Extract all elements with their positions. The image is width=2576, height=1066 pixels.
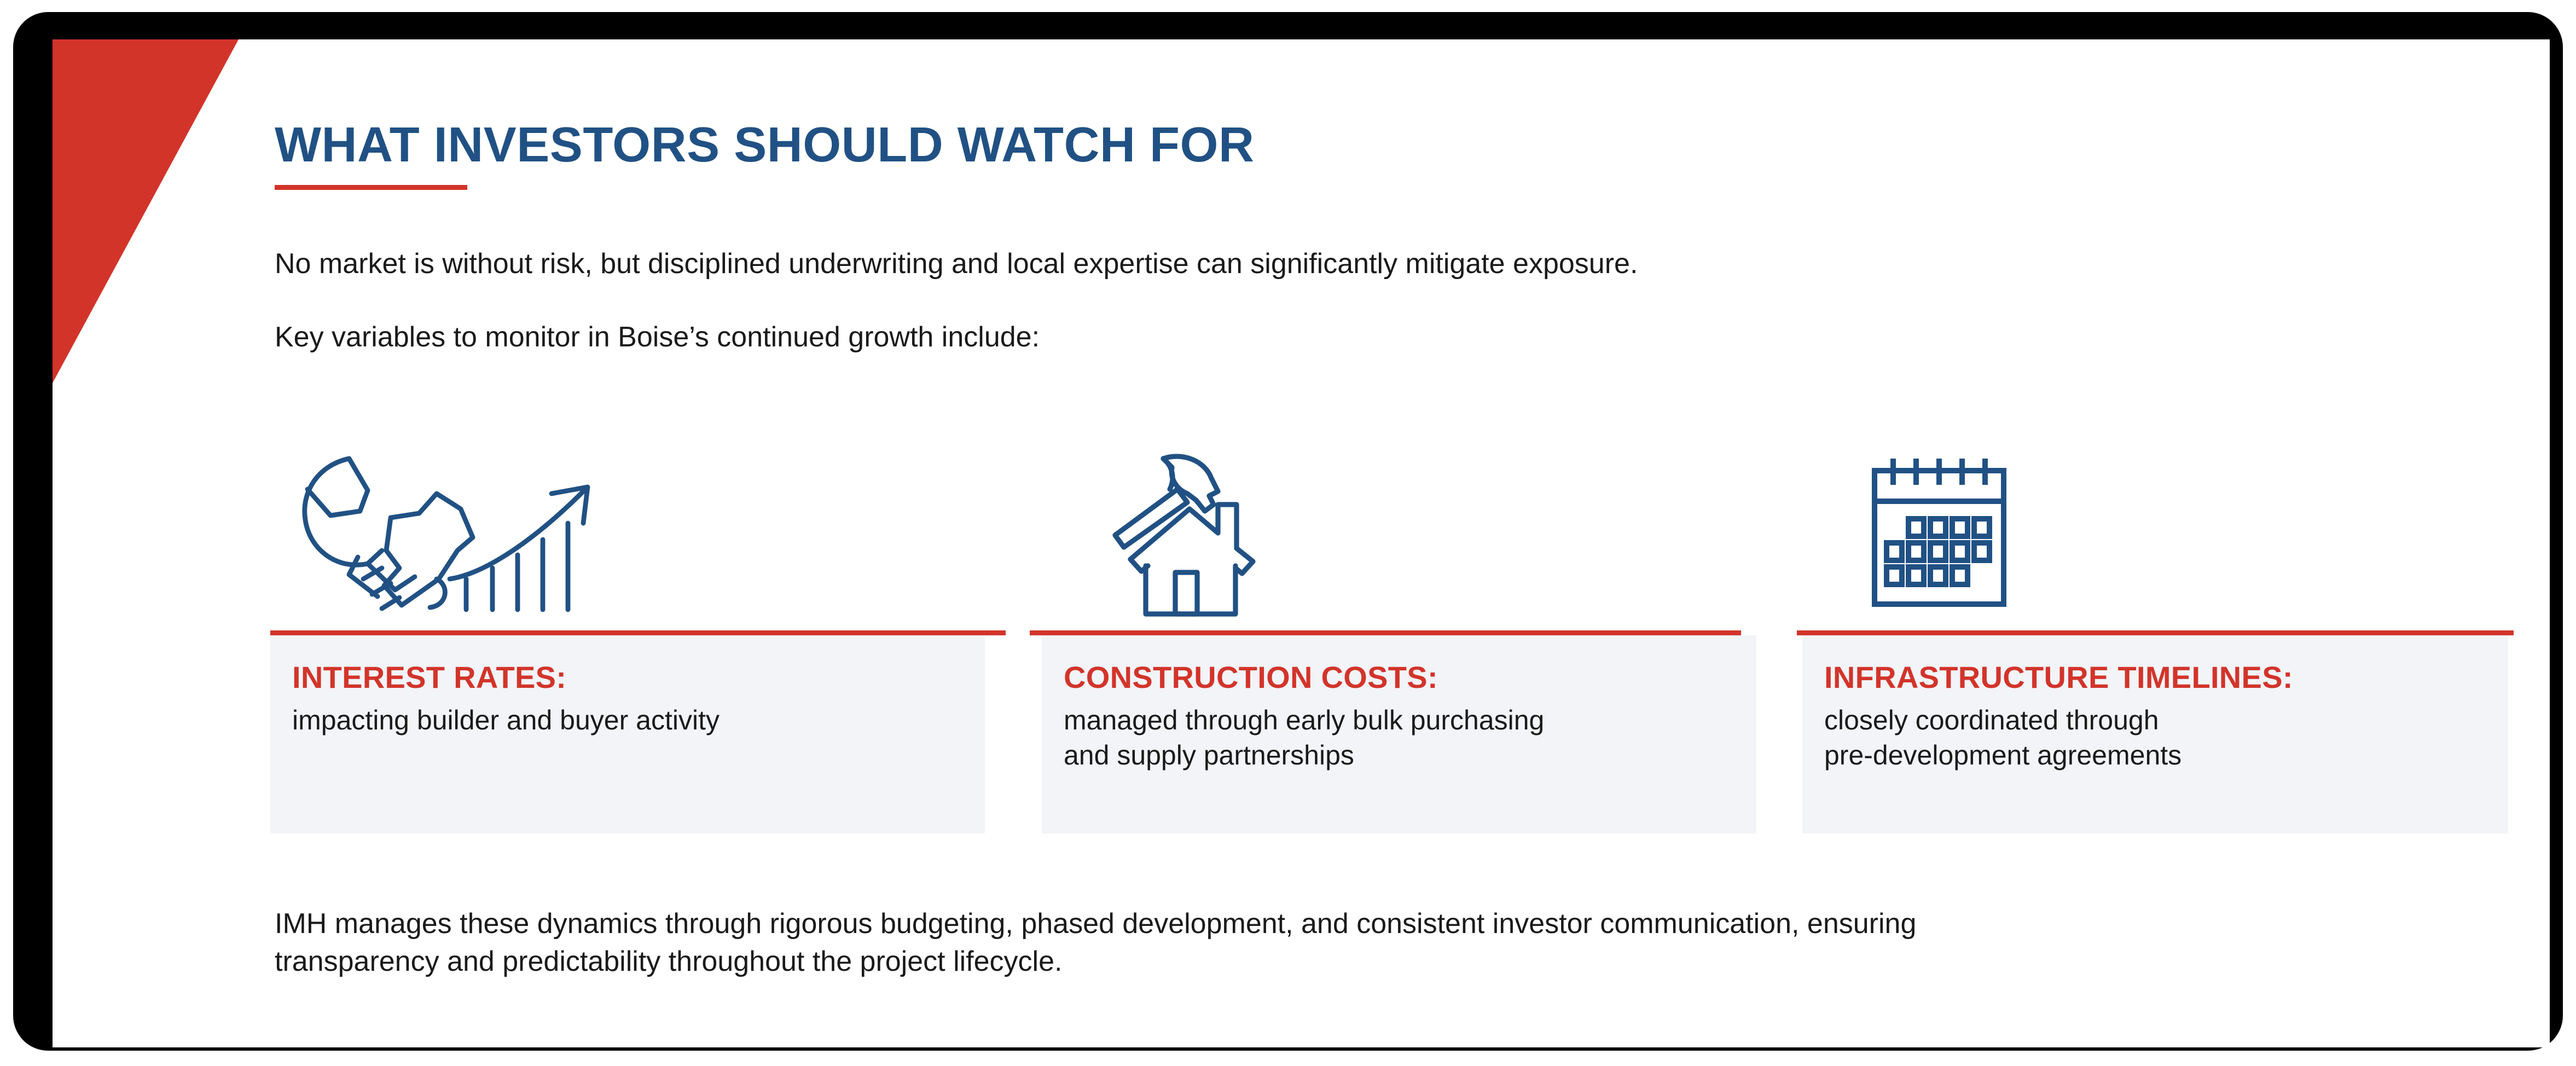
title-underline-rule xyxy=(275,185,467,190)
feature-title: CONSTRUCTION COSTS: xyxy=(1064,662,1734,694)
hammer-house-icon xyxy=(1091,445,1277,626)
footer-paragraph: IMH manages these dynamics through rigor… xyxy=(275,905,2441,980)
red-corner-wedge xyxy=(53,39,239,383)
feature-body-line-1: closely coordinated through xyxy=(1824,705,2159,735)
feature-body-line-1: impacting builder and buyer activity xyxy=(292,705,720,735)
column-divider-rule xyxy=(1797,630,2514,635)
feature-column-infrastructure-timelines: INFRASTRUCTURE TIMELINES: closely coordi… xyxy=(1802,401,2576,860)
icon-container xyxy=(1802,401,2576,630)
feature-panel: CONSTRUCTION COSTS: managed through earl… xyxy=(1042,635,1756,833)
icon-container xyxy=(270,401,999,630)
feature-body-line-1: managed through early bulk purchasing xyxy=(1064,705,1544,735)
page-title: WHAT INVESTORS SHOULD WATCH FOR xyxy=(275,120,2409,170)
calendar-icon xyxy=(1852,445,2032,626)
content-card: WHAT INVESTORS SHOULD WATCH FOR No marke… xyxy=(53,39,2550,1047)
footer-line-2: transparency and predictability througho… xyxy=(275,943,2441,981)
footer-line-1: IMH manages these dynamics through rigor… xyxy=(275,905,2441,943)
feature-body: impacting builder and buyer activity xyxy=(292,703,963,738)
intro-paragraph-1: No market is without risk, but disciplin… xyxy=(275,246,1638,282)
feature-body-line-2: and supply partnerships xyxy=(1064,740,1354,770)
intro-paragraph-2: Key variables to monitor in Boise’s cont… xyxy=(275,320,1040,355)
feature-title: INTEREST RATES: xyxy=(292,662,963,694)
column-divider-rule xyxy=(1030,630,1741,635)
feature-body: managed through early bulk purchasing an… xyxy=(1064,703,1734,773)
outer-frame: WHAT INVESTORS SHOULD WATCH FOR No marke… xyxy=(13,12,2563,1051)
feature-panel: INTEREST RATES: impacting builder and bu… xyxy=(270,635,985,833)
wrench-growth-chart-icon xyxy=(286,445,614,626)
feature-column-interest-rates: INTEREST RATES: impacting builder and bu… xyxy=(270,401,999,860)
header: WHAT INVESTORS SHOULD WATCH FOR xyxy=(275,120,2409,190)
feature-columns: INTEREST RATES: impacting builder and bu… xyxy=(270,401,2470,860)
feature-column-construction-costs: CONSTRUCTION COSTS: managed through earl… xyxy=(1042,401,1771,860)
feature-panel: INFRASTRUCTURE TIMELINES: closely coordi… xyxy=(1802,635,2508,833)
feature-title: INFRASTRUCTURE TIMELINES: xyxy=(1824,662,2486,694)
feature-body: closely coordinated through pre-developm… xyxy=(1824,703,2486,773)
icon-container xyxy=(1042,401,1771,630)
column-divider-rule xyxy=(270,630,1006,635)
feature-body-line-2: pre-development agreements xyxy=(1824,740,2182,770)
